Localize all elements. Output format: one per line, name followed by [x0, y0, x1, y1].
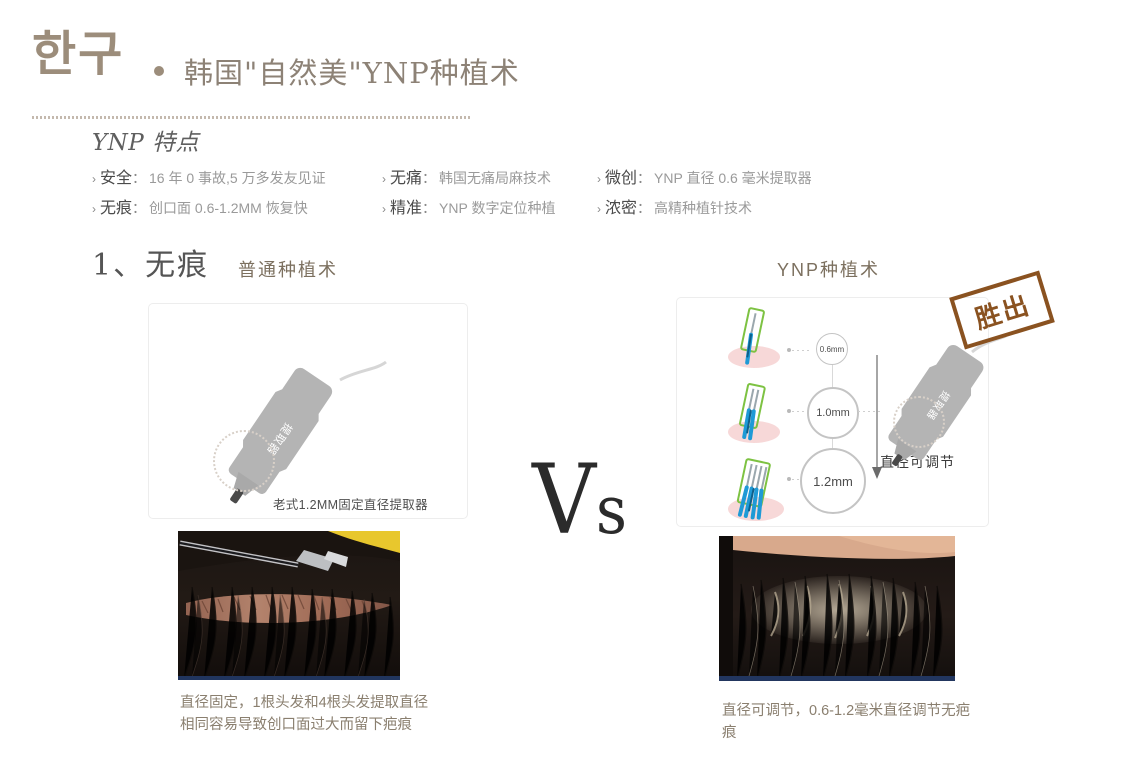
size-circle-1.0mm: 1.0mm	[807, 387, 859, 439]
brand-logo: 한구	[32, 30, 124, 78]
feature-grid: ›安全：16 年 0 事故,5 万多发友见证›无痛：韩国无痛局麻技术›微创：YN…	[92, 164, 882, 224]
section-number-title: 1、无痕	[92, 240, 209, 284]
scalp-photo-ynp	[719, 536, 955, 681]
skin-blur-1	[728, 346, 780, 368]
feature-item-无痕: ›无痕：创口面 0.6-1.2MM 恢复快	[92, 194, 382, 218]
feature-key: 微创	[605, 164, 637, 188]
tip-highlight-circle-right	[893, 396, 945, 448]
connector-node-3	[787, 477, 791, 481]
versus-label: Vs	[532, 452, 627, 548]
right-bottom-caption: 直径可调节，0.6-1.2毫米直径调节无疤痕	[722, 700, 982, 745]
tip-highlight-circle	[213, 430, 275, 492]
chevron-right-icon: ›	[92, 202, 96, 216]
circle-connector-top	[832, 362, 833, 388]
feature-list-section: YNP 特点 ›安全：16 年 0 事故,5 万多发友见证›无痛：韩国无痛局麻技…	[92, 123, 892, 224]
header-divider	[32, 116, 470, 119]
feature-key: 无痕	[100, 194, 132, 218]
page-title: 韩国"自然美"YNP种植术	[184, 50, 520, 92]
feature-list-title: YNP 特点	[92, 123, 892, 157]
vs-letter-v: V	[532, 452, 596, 548]
chevron-right-icon: ›	[597, 172, 601, 186]
feature-item-浓密: ›浓密：高精种植针技术	[597, 194, 877, 218]
connector-line-2	[792, 411, 804, 412]
size-circle-0.6mm: 0.6mm	[816, 333, 848, 365]
connector-node-1	[787, 348, 791, 352]
feature-value: 韩国无痛局麻技术	[439, 168, 551, 188]
winner-stamp: 胜出	[949, 270, 1055, 349]
feature-value: 高精种植针技术	[654, 198, 752, 218]
feature-key: 安全	[100, 164, 132, 188]
vs-letter-s: s	[596, 478, 627, 544]
left-bottom-caption: 直径固定，1根头发和4根头发提取直径相同容易导致创口面过大而留下疤痕	[180, 692, 440, 737]
feature-value: YNP 直径 0.6 毫米提取器	[654, 168, 812, 188]
device-cable	[340, 362, 386, 380]
feature-item-微创: ›微创：YNP 直径 0.6 毫米提取器	[597, 164, 877, 188]
feature-separator: ：	[637, 168, 651, 188]
feature-separator: ：	[422, 168, 436, 188]
chevron-right-icon: ›	[382, 202, 386, 216]
feature-key: 精准	[390, 194, 422, 218]
brand-dot-icon	[154, 66, 164, 76]
left-panel-caption: 老式1.2MM固定直径提取器	[273, 494, 428, 513]
comparison-label-left: 普通种植术	[238, 256, 338, 282]
connector-line-1	[792, 350, 812, 351]
feature-item-无痛: ›无痛：韩国无痛局麻技术	[382, 164, 597, 188]
feature-value: YNP 数字定位种植	[439, 198, 555, 218]
connector-line-3	[792, 479, 800, 480]
feature-key: 浓密	[605, 194, 637, 218]
comparison-label-right: YNP种植术	[777, 256, 880, 282]
feature-separator: ：	[132, 168, 146, 188]
chevron-right-icon: ›	[382, 172, 386, 186]
feature-separator: ：	[422, 198, 436, 218]
feature-item-精准: ›精准：YNP 数字定位种植	[382, 194, 597, 218]
feature-key: 无痛	[390, 164, 422, 188]
scalp-photo-traditional	[178, 531, 400, 680]
connector-node-2	[787, 409, 791, 413]
feature-item-安全: ›安全：16 年 0 事故,5 万多发友见证	[92, 164, 382, 188]
size-circle-1.2mm: 1.2mm	[800, 448, 866, 514]
page-header: 한구 韩国"自然美"YNP种植术	[32, 26, 482, 104]
feature-separator: ：	[637, 198, 651, 218]
feature-value: 16 年 0 事故,5 万多发友见证	[149, 168, 326, 188]
feature-value: 创口面 0.6-1.2MM 恢复快	[149, 198, 308, 218]
chevron-right-icon: ›	[597, 202, 601, 216]
feature-separator: ：	[132, 198, 146, 218]
chevron-right-icon: ›	[92, 172, 96, 186]
